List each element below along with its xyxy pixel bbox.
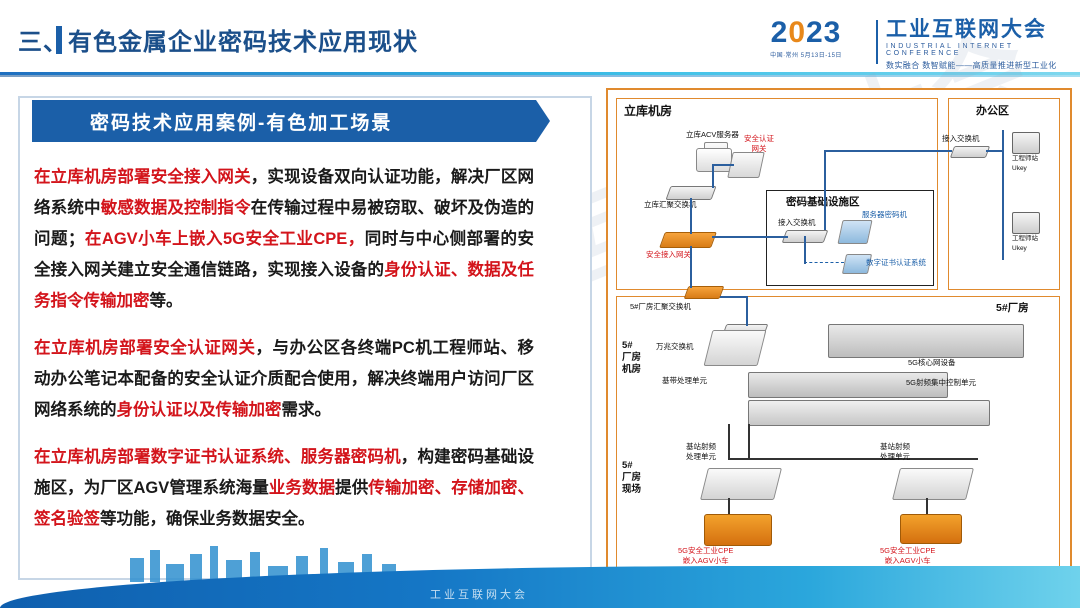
link-server-switch: [712, 166, 714, 188]
bbu-left-icon: [700, 468, 782, 500]
server-crypto-machine-icon: [837, 220, 872, 244]
case-banner-label: 密码技术应用案例-有色加工场景: [90, 108, 392, 135]
agv-car-icon: [900, 514, 962, 544]
skyline-text: 工业互联网大会: [430, 586, 528, 602]
case-banner: 密码技术应用案例-有色加工场景: [32, 100, 536, 142]
security-access-gateway-label: 安全接入网关: [646, 250, 691, 260]
case-description: 在立库机房部署安全接入网关，实现设备双向认证功能，解决厂区网络系统中敏感数据及控…: [34, 162, 534, 551]
ukey-1-label: Ukey: [1012, 164, 1027, 174]
page-title: 三、有色金属企业密码技术应用现状: [18, 22, 418, 57]
case-text-run: 需求。: [282, 401, 332, 419]
conference-title-en: INDUSTRIAL INTERNET CONFERENCE: [886, 43, 1062, 57]
header-divider-secondary: [0, 75, 1080, 77]
zone-office-area: [948, 98, 1060, 290]
security-auth-gateway-label: 安全认证网关: [744, 134, 774, 154]
conference-logo: 2023 中国·常州 5月13日-15日 工业互联网大会 INDUSTRIAL …: [742, 18, 1062, 68]
link-agg-gigabit-v: [746, 296, 748, 326]
engineer-station-2-icon: [1012, 212, 1040, 234]
engineer-station-1-label: 工程师站: [1012, 154, 1038, 164]
engineer-station-1-icon: [1012, 132, 1040, 154]
link-rack-down: [728, 424, 730, 460]
case-text-run: 等。: [150, 292, 183, 310]
rf-center-unit-icon: [748, 400, 990, 426]
link-gateway-access: [712, 236, 788, 238]
office-switch-link: [986, 150, 1004, 152]
logo-divider: [876, 20, 878, 64]
skyline-building: [166, 564, 184, 582]
access-switch-down-line: [804, 236, 806, 264]
link-switch-gateway: [690, 198, 692, 234]
footer-decoration: 工业互联网大会: [0, 546, 1080, 608]
server-crypto-machine-label: 服务器密码机: [862, 210, 907, 220]
conference-year: 2023: [742, 18, 870, 48]
conference-title-cn: 工业互联网大会: [886, 18, 1062, 41]
zone-crypto-infra-label: 密码基础设施区: [786, 194, 860, 209]
conference-title-block: 工业互联网大会 INDUSTRIAL INTERNET CONFERENCE 数…: [886, 18, 1062, 71]
agv-stacker-icon: [704, 514, 772, 546]
case-text-run: 业务数据: [269, 479, 335, 497]
case-text-run: 在立库机房部署数字证书认证系统、服务器密码机: [34, 448, 401, 466]
ca-system-label: 数字证书认证系统: [866, 258, 926, 268]
engineer-station-2-label: 工程师站: [1012, 234, 1038, 244]
link-warehouse-office: [824, 150, 952, 152]
link-agg-gigabit-h: [720, 296, 748, 298]
gigabit-switch-label: 万兆交换机: [656, 342, 694, 352]
slide-header: 三、有色金属企业密码技术应用现状 2023 中国·常州 5月13日-15日 工业…: [0, 0, 1080, 82]
case-text-run: 提供: [335, 479, 368, 497]
core-5g-label: 5G核心网设备: [908, 358, 956, 368]
zone-plant5-room-label: 5#厂房机房: [622, 340, 641, 376]
case-paragraph-2: 在立库机房部署安全认证网关，与办公区各终端PC机工程师站、移动办公笔记本配备的安…: [34, 333, 534, 426]
conference-year-sub: 中国·常州 5月13日-15日: [742, 50, 870, 59]
skyline-building: [190, 554, 202, 582]
link-bts-bus: [728, 458, 978, 460]
bbu-right-label: 基站射频处理单元: [880, 442, 910, 462]
case-text-run: 在立库机房部署安全接入网关: [34, 168, 251, 186]
skyline-building: [210, 546, 218, 582]
link-server-auth: [712, 164, 734, 166]
link-rack-down2: [748, 424, 750, 460]
conference-year-block: 2023 中国·常州 5月13日-15日: [742, 18, 870, 59]
plant5-agg-switch-label: 5#厂房汇聚交换机: [630, 302, 691, 312]
ukey-2-label: Ukey: [1012, 244, 1027, 254]
rf-center-unit-label: 5G射频集中控制单元: [906, 378, 976, 388]
baseband-unit-label: 基带处理单元: [662, 376, 707, 386]
bbu-left-label: 基站射频处理单元: [686, 442, 716, 462]
architecture-diagram: 办公区 立库机房 密码基础设施区 5#厂房 5#厂房机房 5#厂房现场 立库AC…: [606, 88, 1072, 586]
case-text-run: 等功能，确保业务数据安全。: [100, 510, 315, 528]
skyline-wave-front: [0, 566, 1080, 608]
link-office-down: [824, 150, 826, 230]
ca-link-dashed: [804, 262, 844, 263]
office-access-switch-icon: [950, 146, 990, 158]
core-5g-icon: [828, 324, 1024, 358]
warehouse-agg-switch-label: 立库汇聚交换机: [644, 200, 697, 210]
case-text-run: 在AGV小车上嵌入5G安全工业CPE，: [84, 230, 364, 248]
bbu-right-icon: [892, 468, 974, 500]
acv-server-label: 立库ACV服务器: [686, 130, 739, 140]
case-paragraph-3: 在立库机房部署数字证书认证系统、服务器密码机，构建密码基础设施区，为厂区AGV管…: [34, 442, 534, 535]
conference-slogan: 数实融合 数智赋能——高质量推进新型工业化: [886, 60, 1062, 71]
access-switch-1-label: 接入交换机: [778, 218, 816, 228]
office-access-switch-label: 接入交换机: [942, 134, 980, 144]
link-gateway-plant5: [690, 246, 692, 288]
case-text-run: 敏感数据及控制指令: [101, 199, 251, 217]
skyline-building: [130, 558, 144, 582]
acv-server-box: [696, 148, 732, 172]
zone-plant5-site-label: 5#厂房现场: [622, 460, 641, 496]
case-text-run: 身份认证以及传输加密: [117, 401, 282, 419]
zone-office-area-label: 办公区: [976, 102, 1009, 118]
zone-warehouse-room-label: 立库机房: [624, 102, 672, 119]
zone-plant5-label: 5#厂房: [996, 300, 1029, 315]
security-access-gateway-icon: [659, 232, 717, 248]
plant5-edge-box-icon: [704, 330, 767, 366]
skyline-building: [150, 550, 160, 582]
case-text-run: 在立库机房部署安全认证网关: [34, 339, 256, 357]
case-paragraph-1: 在立库机房部署安全接入网关，实现设备双向认证功能，解决厂区网络系统中敏感数据及控…: [34, 162, 534, 317]
